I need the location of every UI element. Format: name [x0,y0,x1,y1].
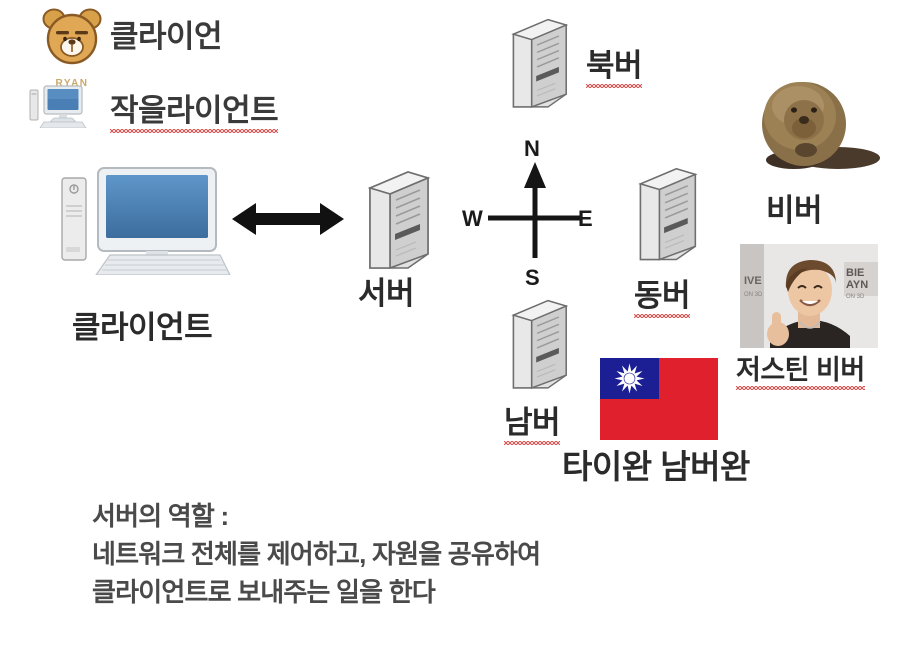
node-server [362,168,432,283]
legend-label-client-short: 클라이언 [110,11,222,56]
meme-image-canvas: RYAN 클라이언 작을라이언트 [0,0,900,646]
caption-line-3: 클라이언트로 보내주는 일을 한다 [92,573,540,611]
spellcheck-underline-wrapper: 북버 [586,40,642,87]
caption-line-2: 네트워크 전체를 제어하고, 자원을 공유하여 [92,535,540,573]
beaver-photo [742,72,894,174]
node-label-beaver: 비버 [766,185,822,230]
node-label-east-server: 동버 [634,270,690,317]
server-tower-icon [505,16,571,116]
node-label-client: 클라이언트 [72,302,212,347]
node-label-server: 서버 [358,268,414,313]
server-tower-icon [632,165,700,269]
compass-label-south: S [525,265,540,291]
node-east-server [632,165,700,274]
caption-block: 서버의 역할 : 네트워크 전체를 제어하고, 자원을 공유하여 클라이언트로 … [92,497,540,611]
node-south-server [505,297,571,402]
spellcheck-underline-wrapper: 동버 [634,270,690,317]
node-label-justin-bieber: 저스틴 비버 [736,348,865,389]
node-client [52,165,242,280]
svg-text:ON 3D: ON 3D [846,294,865,300]
desktop-computer-icon [52,165,242,275]
svg-text:AYN: AYN [846,279,868,291]
legend-item-ryan: RYAN [34,6,110,89]
legend-item-small-client [28,84,92,133]
compass-label-north: N [524,136,540,162]
small-desktop-computer-icon [28,84,92,128]
compass-label-west: W [462,206,483,232]
server-tower-icon [362,168,432,278]
ryan-character-icon [34,6,110,72]
taiwan-flag-icon [600,358,718,445]
svg-text:IVE: IVE [744,275,762,287]
server-tower-icon [505,297,571,397]
node-north-server [505,16,571,121]
svg-text:BIE: BIE [846,267,864,279]
spellcheck-underline-wrapper: 저스틴 비버 [736,348,865,389]
legend-label-small-client: 작을라이언트 [110,85,278,132]
caption-line-1: 서버의 역할 : [92,497,540,535]
node-label-taiwan: 타이완 남버완 [562,440,750,488]
node-label-north-server: 북버 [586,40,642,87]
double-headed-arrow-icon [232,198,344,245]
justin-bieber-photo: IVE ON 3D BIE AYN ON 3D [740,244,878,348]
spellcheck-underline-wrapper: 작을라이언트 [110,85,278,132]
node-label-south-server: 남버 [504,397,560,444]
spellcheck-underline-wrapper: 남버 [504,397,560,444]
svg-text:ON 3D: ON 3D [744,292,763,298]
compass-label-east: E [578,206,593,232]
